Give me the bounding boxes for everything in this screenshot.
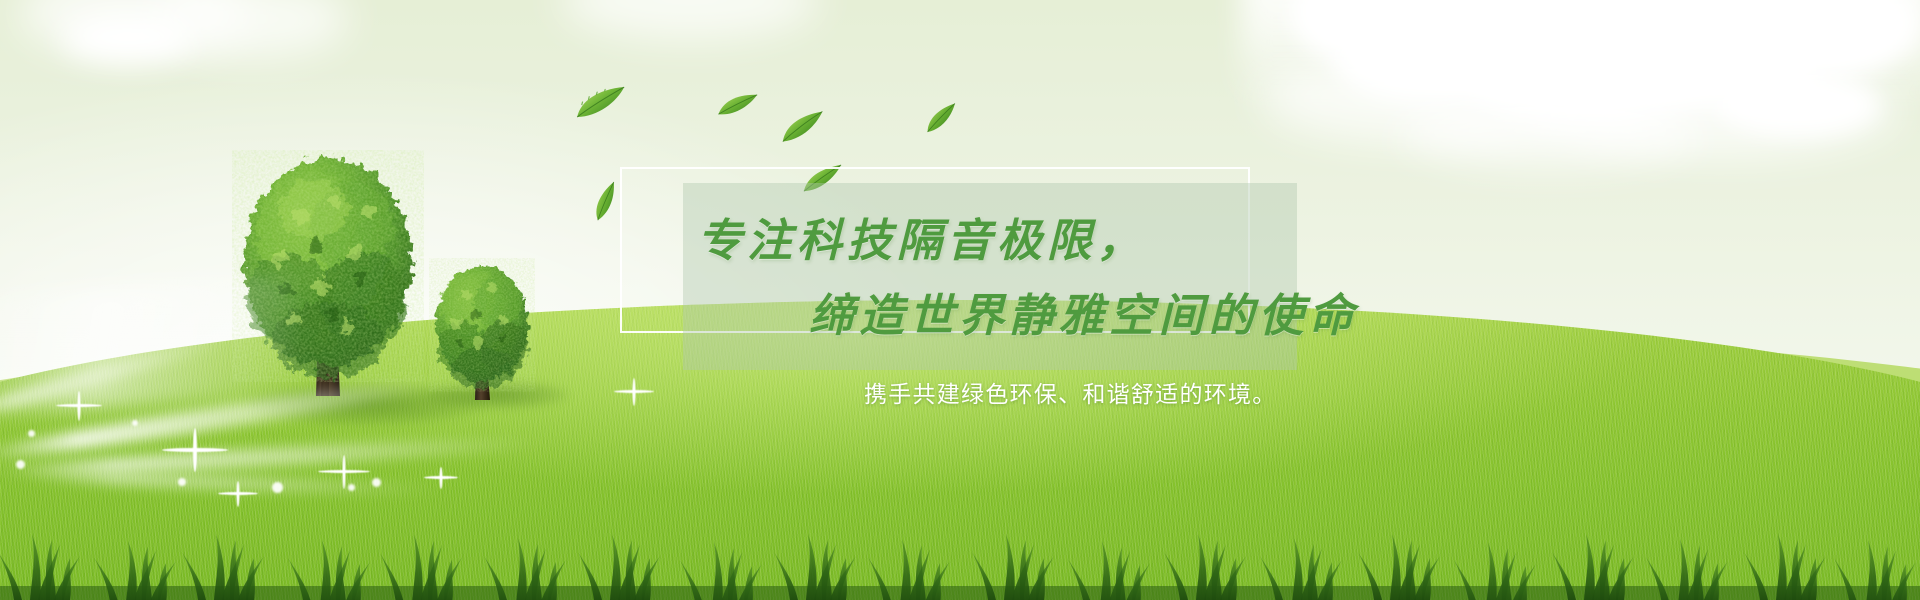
small-tree <box>428 258 536 404</box>
eco-banner: 专注科技隔音极限， 缔造世界静雅空间的使命 携手共建绿色环保、和谐舒适的环境。 <box>0 0 1920 600</box>
glass-panel <box>683 183 1297 370</box>
light-streak <box>0 275 304 418</box>
